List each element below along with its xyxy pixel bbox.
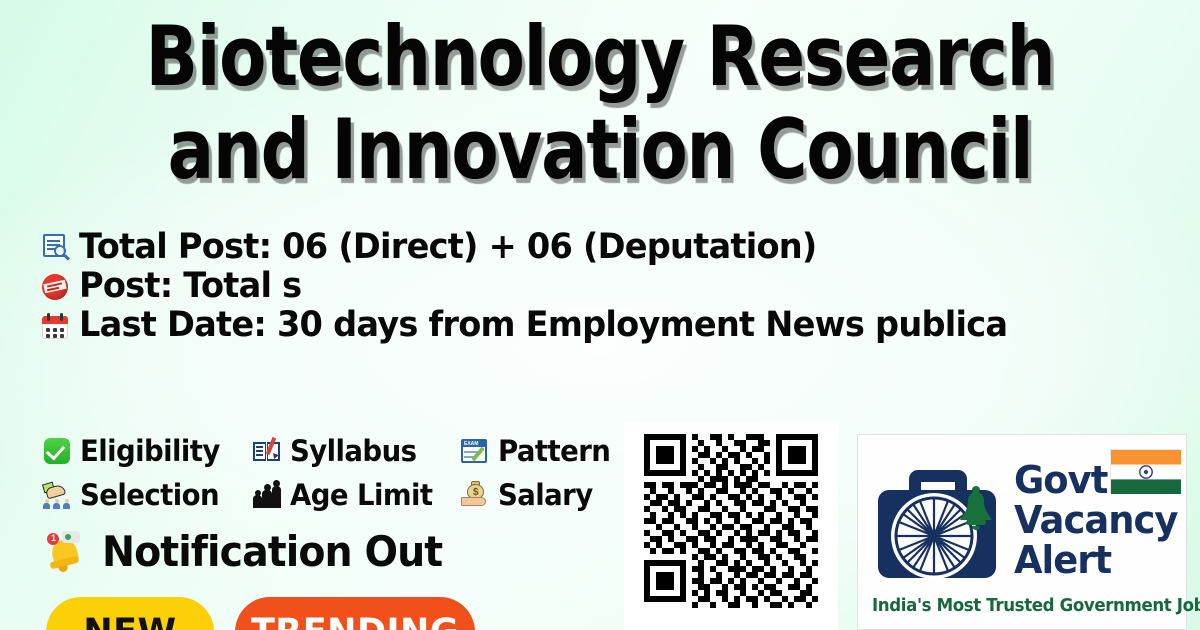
feature-list: Eligibility Syllabus EXAM Pattern [42,430,682,516]
brand-word-alert: Alert [1014,540,1177,580]
feature-selection-label: Selection [80,479,219,512]
document-magnifier-icon [40,233,70,263]
bell-icon [46,531,88,573]
brand-tagline: India's Most Trusted Government Job Aler… [872,595,1161,617]
info-line-total-post: Total Post: 06 (Direct) + 06 (Deputation… [40,228,1200,267]
job-alert-poster: Biotechnology Research and Innovation Co… [0,0,1200,630]
feature-age-limit-label: Age Limit [290,479,433,512]
badge-row: NEW TRENDING [46,597,475,630]
info-line-post: Post: Total s [40,267,1200,306]
brand-logo-row: Govt Vacancy Alert [872,447,1176,593]
info-line-total-post-label: Total Post: 06 (Direct) + 06 (Deputation… [79,228,817,267]
green-check-icon [42,436,72,466]
feature-syllabus[interactable]: Syllabus [252,430,460,472]
feature-eligibility-label: Eligibility [80,435,220,468]
new-badge[interactable]: NEW [46,597,214,630]
calendar-icon [40,311,70,341]
info-line-post-label: Post: Total s [79,267,301,306]
qr-code[interactable] [644,434,818,608]
selection-hand-icon [42,480,72,510]
info-line-last-date: Last Date: 30 days from Employment News … [40,306,1200,345]
exam-form-icon: EXAM [460,436,490,466]
title-line-1: Biotechnology Research [102,10,1098,103]
india-flag-icon [1110,449,1180,493]
feature-pattern-label: Pattern [498,435,610,468]
title-line-2: and Innovation Council [102,103,1098,196]
trending-badge[interactable]: TRENDING [235,597,475,630]
book-pen-icon [252,436,282,466]
info-list: Total Post: 06 (Direct) + 06 (Deputation… [40,228,1200,345]
feature-eligibility[interactable]: Eligibility [42,430,252,472]
money-bag-icon: $ [460,480,490,510]
feature-syllabus-label: Syllabus [290,435,416,468]
feature-selection[interactable]: Selection [42,474,252,516]
briefcase-ashoka-chakra-bell-icon [872,452,1004,588]
brand-word-vacancy: Vacancy [1014,500,1177,540]
notification-label: Notification Out [102,528,442,576]
family-icon [252,480,282,510]
feature-age-limit[interactable]: Age Limit [252,474,460,516]
brand-logo-card[interactable]: Govt Vacancy Alert India's Most Trusted … [857,434,1187,630]
page-title: Biotechnology Research and Innovation Co… [0,10,1200,196]
notification-banner: Notification Out [46,528,464,576]
feature-salary-label: Salary [498,479,593,512]
qr-code-card[interactable] [624,422,838,630]
red-badge-icon [40,272,70,302]
info-line-last-date-label: Last Date: 30 days from Employment News … [79,306,1007,345]
